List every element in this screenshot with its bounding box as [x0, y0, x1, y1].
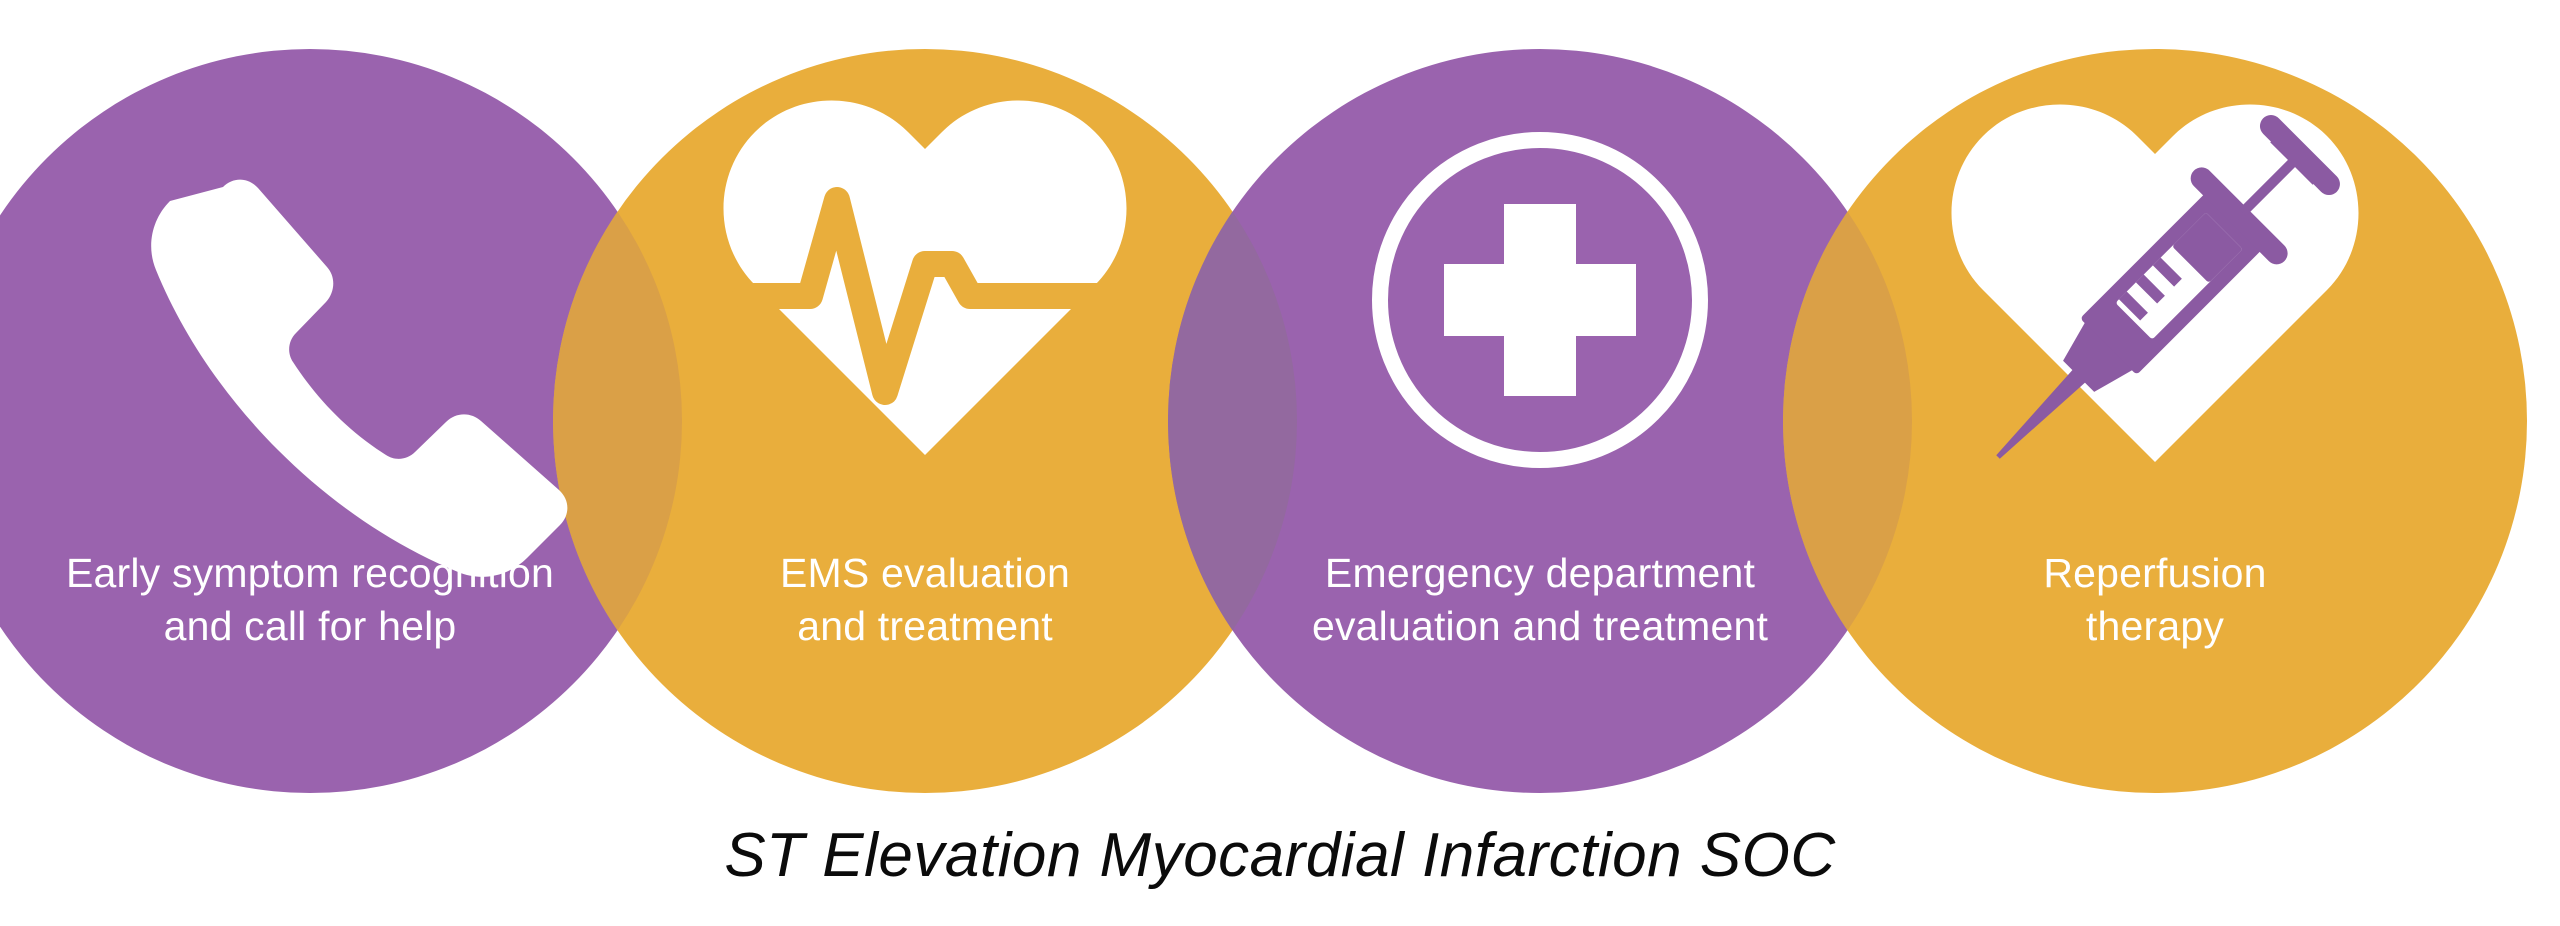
- infographic-canvas: Early symptom recognition and call for h…: [0, 0, 2560, 926]
- venn-circles-graphic: [0, 0, 2560, 926]
- diagram-title-bar: ST Elevation Myocardial Infarction SOC: [0, 820, 2560, 891]
- diagram-title: ST Elevation Myocardial Infarction SOC: [724, 820, 1835, 891]
